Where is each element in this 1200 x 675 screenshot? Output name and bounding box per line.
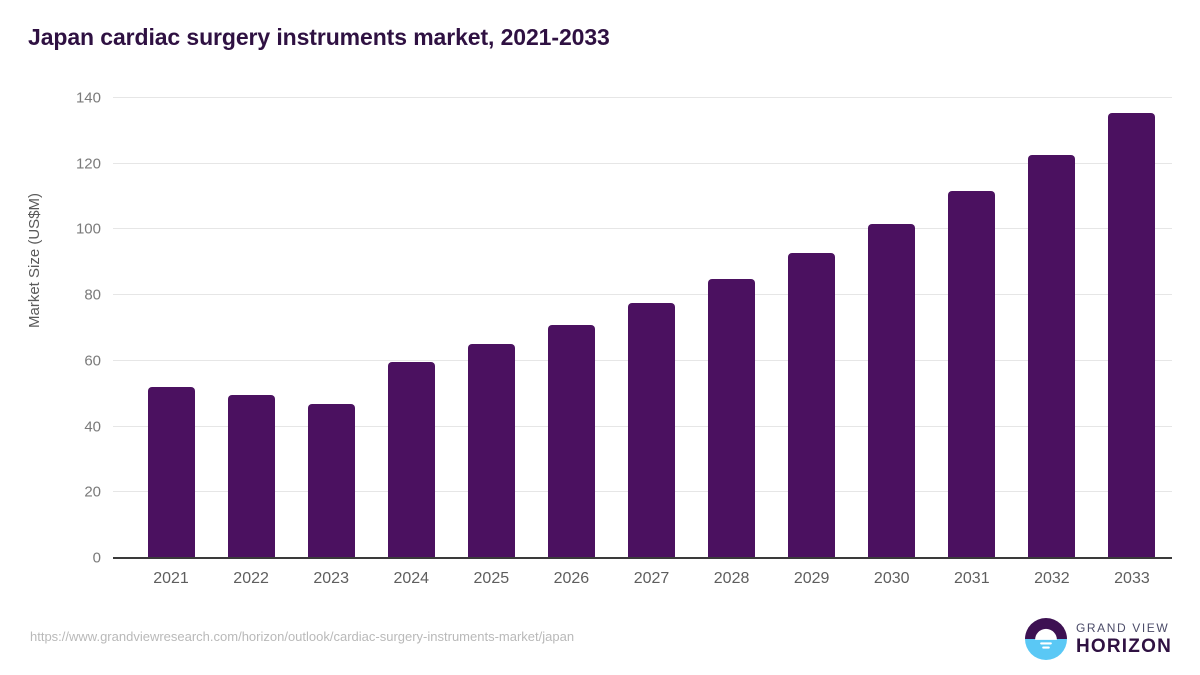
x-tick-label: 2031 — [932, 570, 1012, 588]
gridline — [113, 163, 1172, 164]
x-tick-label: 2030 — [852, 570, 932, 588]
y-tick-label: 20 — [55, 484, 101, 501]
y-tick-label: 80 — [55, 287, 101, 304]
logo-line-1: GRAND VIEW — [1076, 622, 1172, 634]
bar[interactable] — [468, 344, 515, 558]
bar[interactable] — [868, 224, 915, 558]
x-axis-line — [113, 557, 1172, 559]
bar[interactable] — [1108, 113, 1155, 558]
y-axis-title: Market Size (US$M) — [26, 193, 43, 328]
y-tick-label: 0 — [55, 550, 101, 567]
x-tick-label: 2026 — [531, 570, 611, 588]
y-tick-label: 60 — [55, 352, 101, 369]
bar[interactable] — [948, 191, 995, 558]
x-tick-label: 2032 — [1012, 570, 1092, 588]
bar[interactable] — [548, 325, 595, 558]
logo-wordmark: GRAND VIEW HORIZON — [1076, 622, 1172, 656]
bar[interactable] — [1028, 155, 1075, 558]
chart-page: Japan cardiac surgery instruments market… — [0, 0, 1200, 675]
bar[interactable] — [628, 303, 675, 558]
x-tick-label: 2027 — [611, 570, 691, 588]
source-url[interactable]: https://www.grandviewresearch.com/horizo… — [30, 629, 574, 644]
y-tick-label: 120 — [55, 155, 101, 172]
x-tick-label: 2028 — [692, 570, 772, 588]
x-tick-label: 2025 — [451, 570, 531, 588]
brand-logo[interactable]: GRAND VIEW HORIZON — [1025, 618, 1172, 660]
x-tick-label: 2024 — [371, 570, 451, 588]
bar[interactable] — [708, 279, 755, 558]
x-tick-label: 2029 — [772, 570, 852, 588]
bar[interactable] — [308, 404, 355, 558]
bar[interactable] — [388, 362, 435, 558]
x-tick-label: 2033 — [1092, 570, 1172, 588]
plot-area — [113, 98, 1172, 558]
y-tick-label: 140 — [55, 90, 101, 107]
y-tick-label: 40 — [55, 418, 101, 435]
gridline — [113, 294, 1172, 295]
x-tick-label: 2023 — [291, 570, 371, 588]
page-title: Japan cardiac surgery instruments market… — [28, 24, 610, 51]
gridline — [113, 97, 1172, 98]
bar[interactable] — [228, 395, 275, 558]
bar[interactable] — [788, 253, 835, 558]
y-tick-label: 100 — [55, 221, 101, 238]
gridline — [113, 228, 1172, 229]
x-tick-label: 2021 — [131, 570, 211, 588]
horizon-circle-icon — [1025, 618, 1067, 660]
x-tick-label: 2022 — [211, 570, 291, 588]
bar[interactable] — [148, 387, 195, 558]
logo-line-2: HORIZON — [1076, 637, 1172, 656]
